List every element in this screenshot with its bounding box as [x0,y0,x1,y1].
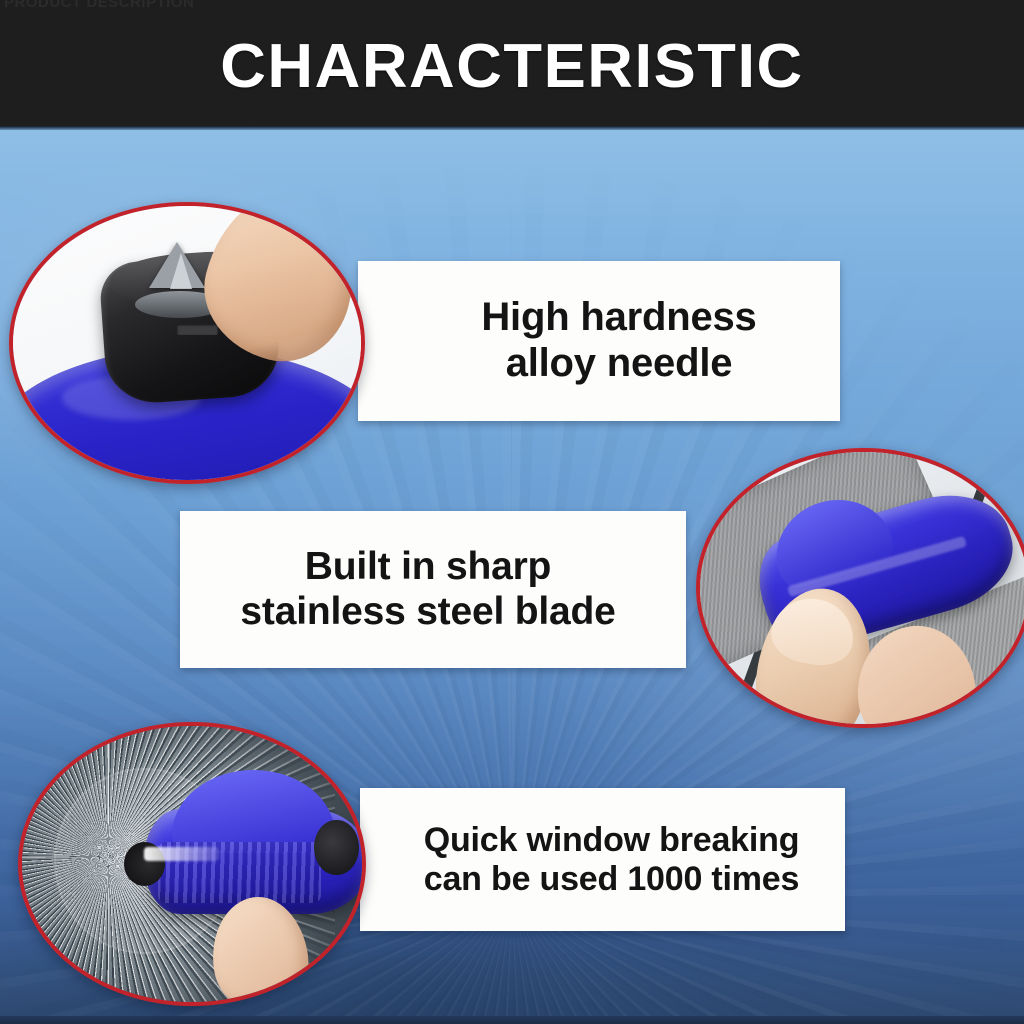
glass-break-scene [22,726,362,1002]
breaker-tip-highlight [144,847,219,861]
hammer-head-slot [177,324,219,335]
feature-panel-blade: Built in sharp stainless steel blade [180,511,686,668]
alloy-spike-highlight [170,253,192,289]
bottom-edge-strip [0,1016,1024,1024]
seatbelt-scene [700,452,1024,724]
seatbelt-cutter-photo [696,448,1024,728]
page-title: CHARACTERISTIC [0,36,1024,98]
header-banner: PRODUCT DESCRIPTION CHARACTERISTIC [0,0,1024,130]
feature-panel-breaker: Quick window breaking can be used 1000 t… [360,788,845,931]
needle-closeup-photo [9,202,365,484]
needle-scene [13,206,361,480]
feature-panel-needle: High hardness alloy needle [358,261,840,421]
infographic-canvas: PRODUCT DESCRIPTION CHARACTERISTIC High … [0,0,1024,1024]
tool-end-cap [314,820,358,875]
feature-label-needle: High hardness alloy needle [441,295,756,386]
glass-breaking-photo [18,722,366,1006]
feature-label-blade: Built in sharp stainless steel blade [240,545,625,634]
feature-label-breaker: Quick window breaking can be used 1000 t… [406,821,800,899]
header-cropped-text: PRODUCT DESCRIPTION [4,0,194,11]
